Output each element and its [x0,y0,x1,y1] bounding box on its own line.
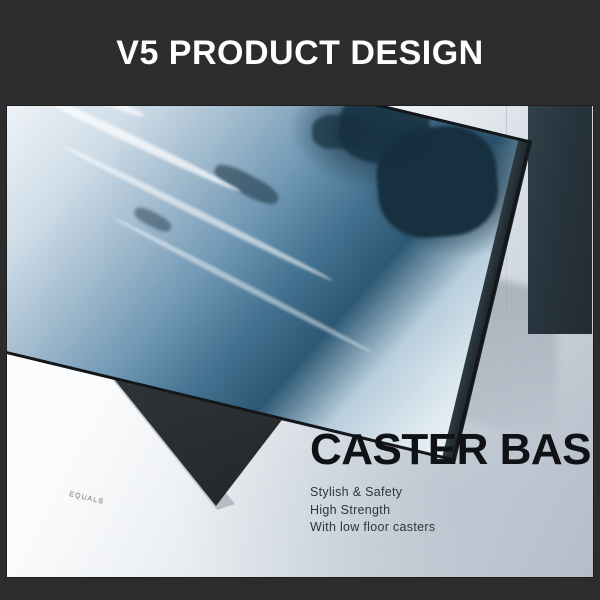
feature-item: With low floor casters [310,519,590,537]
page-header: V5 PRODUCT DESIGN [0,0,600,105]
screen-rock-shape [312,114,360,148]
footer-strip [0,578,600,600]
monitor-back-panel [528,106,592,334]
feature-list: Stylish & Safety High Strength With low … [310,484,590,537]
page-title: V5 PRODUCT DESIGN [116,36,483,70]
product-photo: EQUALS [6,105,594,578]
caption-heading: CASTER BASE [310,428,590,472]
feature-item: Stylish & Safety [310,484,590,502]
caption-block: CASTER BASE Stylish & Safety High Streng… [310,428,590,537]
product-design-page: V5 PRODUCT DESIGN EQUALS [0,0,600,600]
screen-snow-ridge [6,105,242,195]
feature-item: High Strength [310,502,590,520]
